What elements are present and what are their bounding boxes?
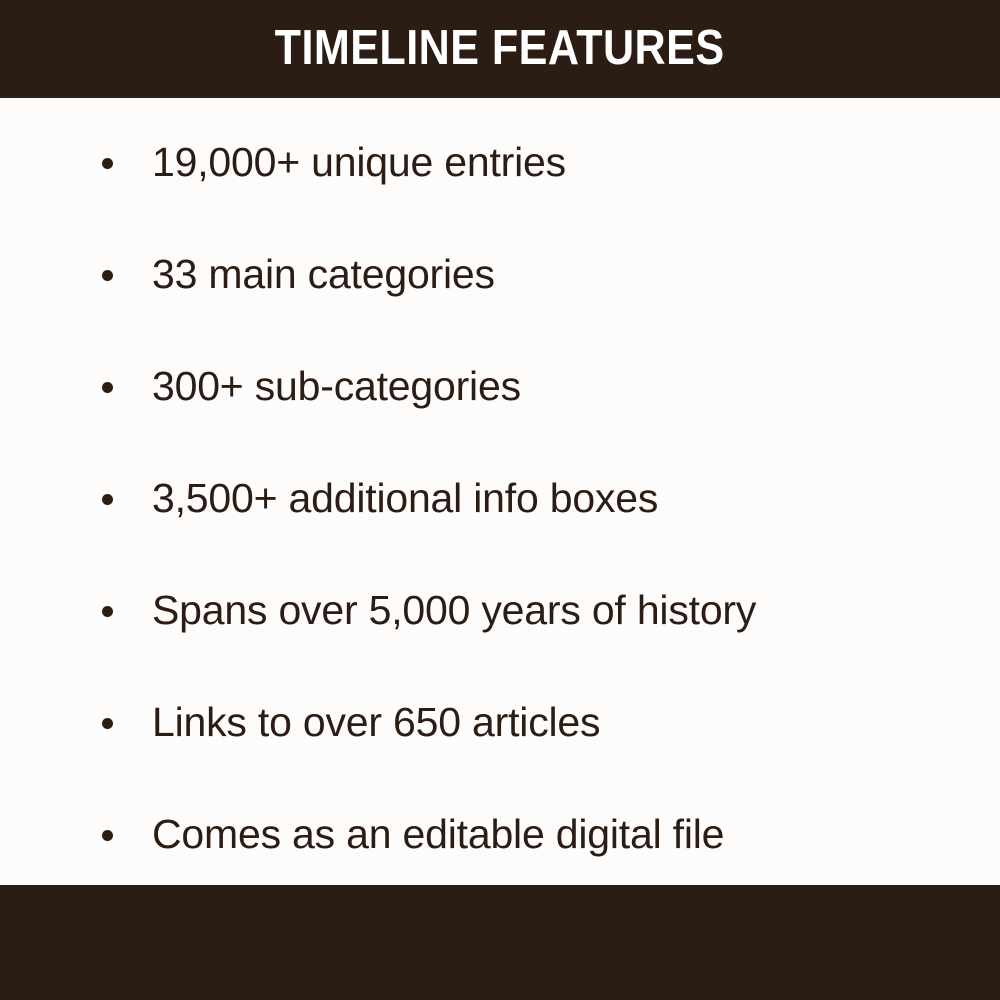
feature-label: Comes as an editable digital file [152,813,960,856]
bullet-dot-icon [102,830,113,841]
header-bar: TIMELINE FEATURES [0,0,1000,98]
footer-bar [0,885,1000,1000]
list-item: Links to over 650 articles [102,697,960,749]
list-item: Comes as an editable digital file [102,809,960,861]
features-body: 19,000+ unique entries 33 main categorie… [0,98,1000,885]
list-item: 300+ sub-categories [102,361,960,413]
feature-label: Spans over 5,000 years of history [152,589,960,632]
feature-label: 33 main categories [152,253,960,296]
bullet-dot-icon [102,606,113,617]
feature-label: 300+ sub-categories [152,365,960,408]
bullet-dot-icon [102,158,113,169]
list-item: 3,500+ additional info boxes [102,473,960,525]
feature-list: 19,000+ unique entries 33 main categorie… [0,98,1000,885]
feature-label: Links to over 650 articles [152,701,960,744]
list-item: 19,000+ unique entries [102,137,960,189]
feature-label: 19,000+ unique entries [152,141,960,184]
timeline-features-poster: TIMELINE FEATURES 19,000+ unique entries… [0,0,1000,1000]
bullet-dot-icon [102,382,113,393]
list-item: 33 main categories [102,249,960,301]
list-item: Spans over 5,000 years of history [102,585,960,637]
bullet-dot-icon [102,270,113,281]
bullet-dot-icon [102,718,113,729]
feature-label: 3,500+ additional info boxes [152,477,960,520]
page-title: TIMELINE FEATURES [275,24,725,73]
bullet-dot-icon [102,494,113,505]
